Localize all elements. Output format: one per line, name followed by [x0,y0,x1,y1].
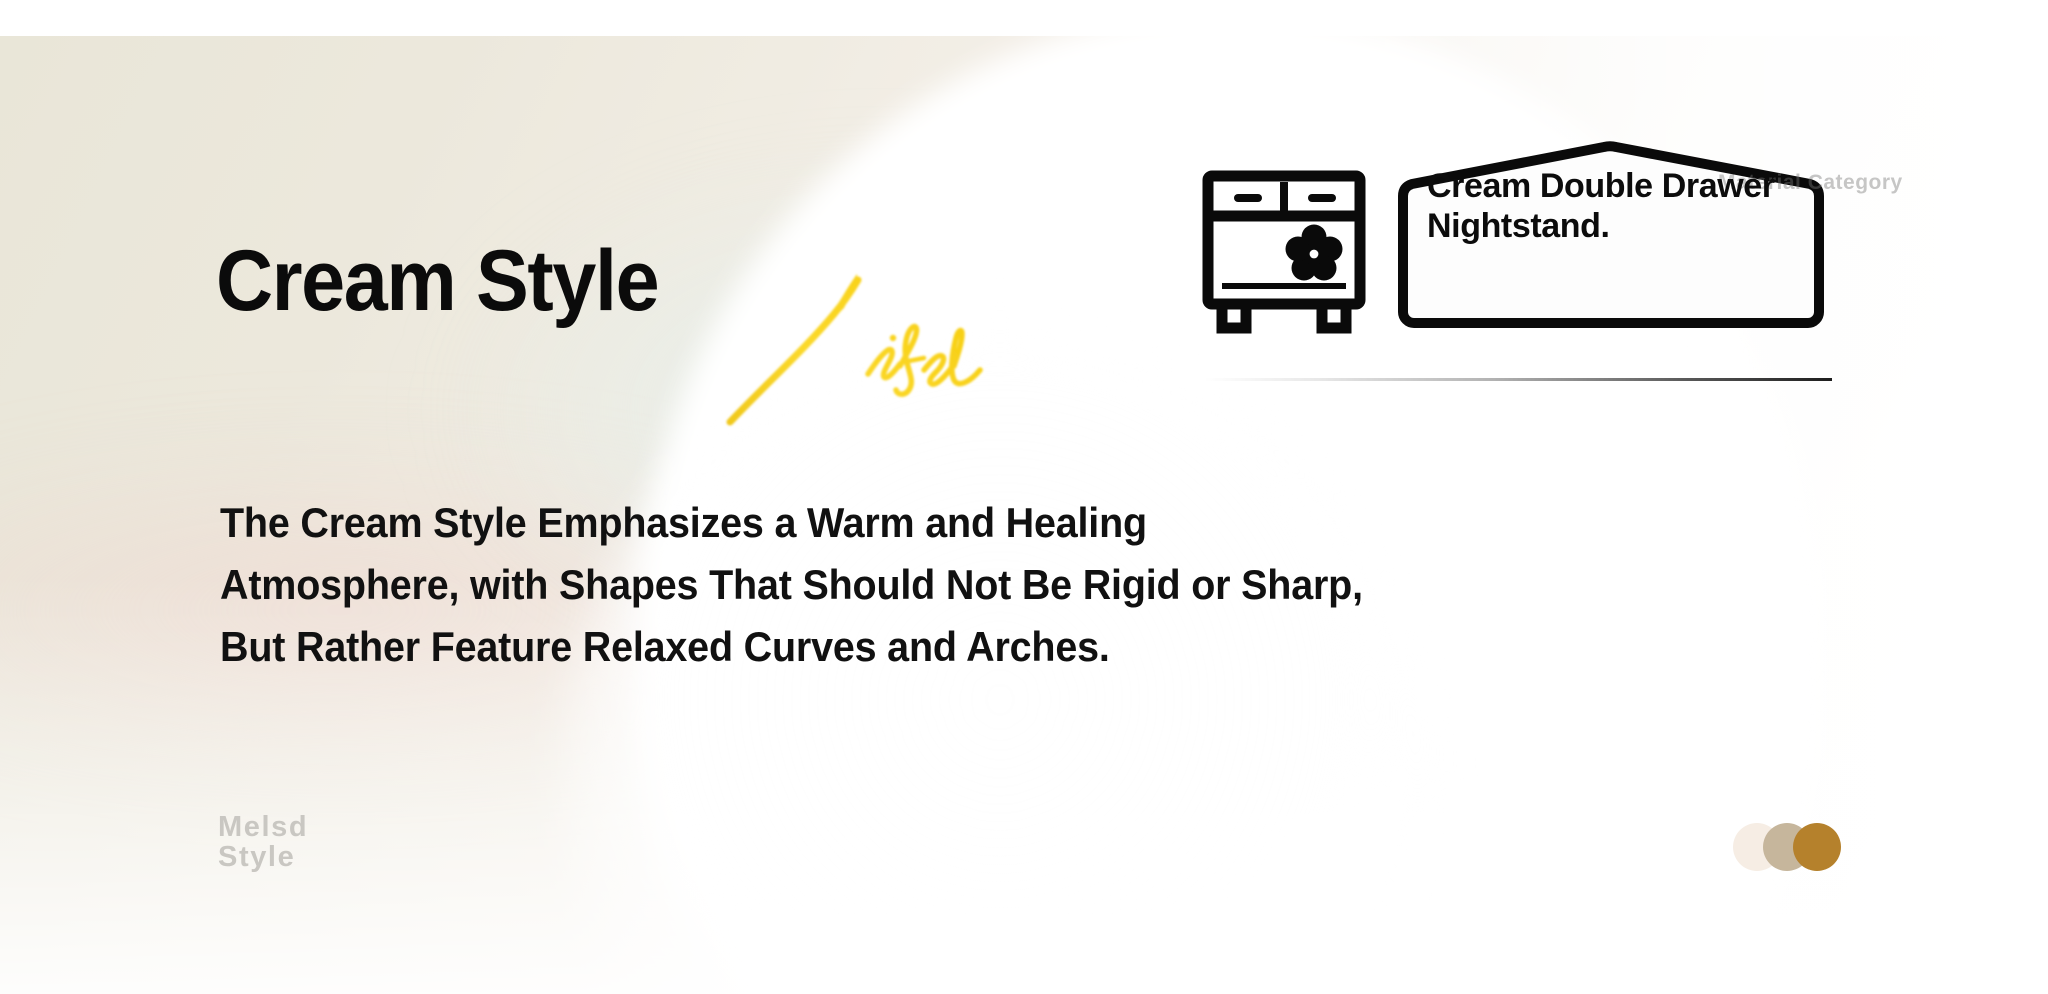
body-line: Atmosphere, with Shapes That Should Not … [220,554,1762,616]
product-badge[interactable]: Material Category Cream Double Drawer Ni… [1396,140,1826,330]
body-line: But Rather Feature Relaxed Curves and Ar… [220,616,1762,678]
brand-line-1: Melsd [218,812,308,842]
top-white-band [0,0,2048,36]
slide-canvas: Cream Style [0,0,2048,994]
page-title: Cream Style [216,238,658,324]
brand-line-2: Style [218,842,308,872]
section-divider [1204,378,1832,381]
color-swatch-golden-brown [1793,823,1841,871]
body-line: The Cream Style Emphasizes a Warm and He… [220,492,1762,554]
badge-label: Cream Double Drawer Nightstand. [1427,166,1817,246]
color-palette [1733,823,1843,871]
body-paragraph: The Cream Style Emphasizes a Warm and He… [220,492,1762,678]
nightstand-icon [1200,168,1368,341]
brand-logo: Melsd Style [218,812,308,872]
